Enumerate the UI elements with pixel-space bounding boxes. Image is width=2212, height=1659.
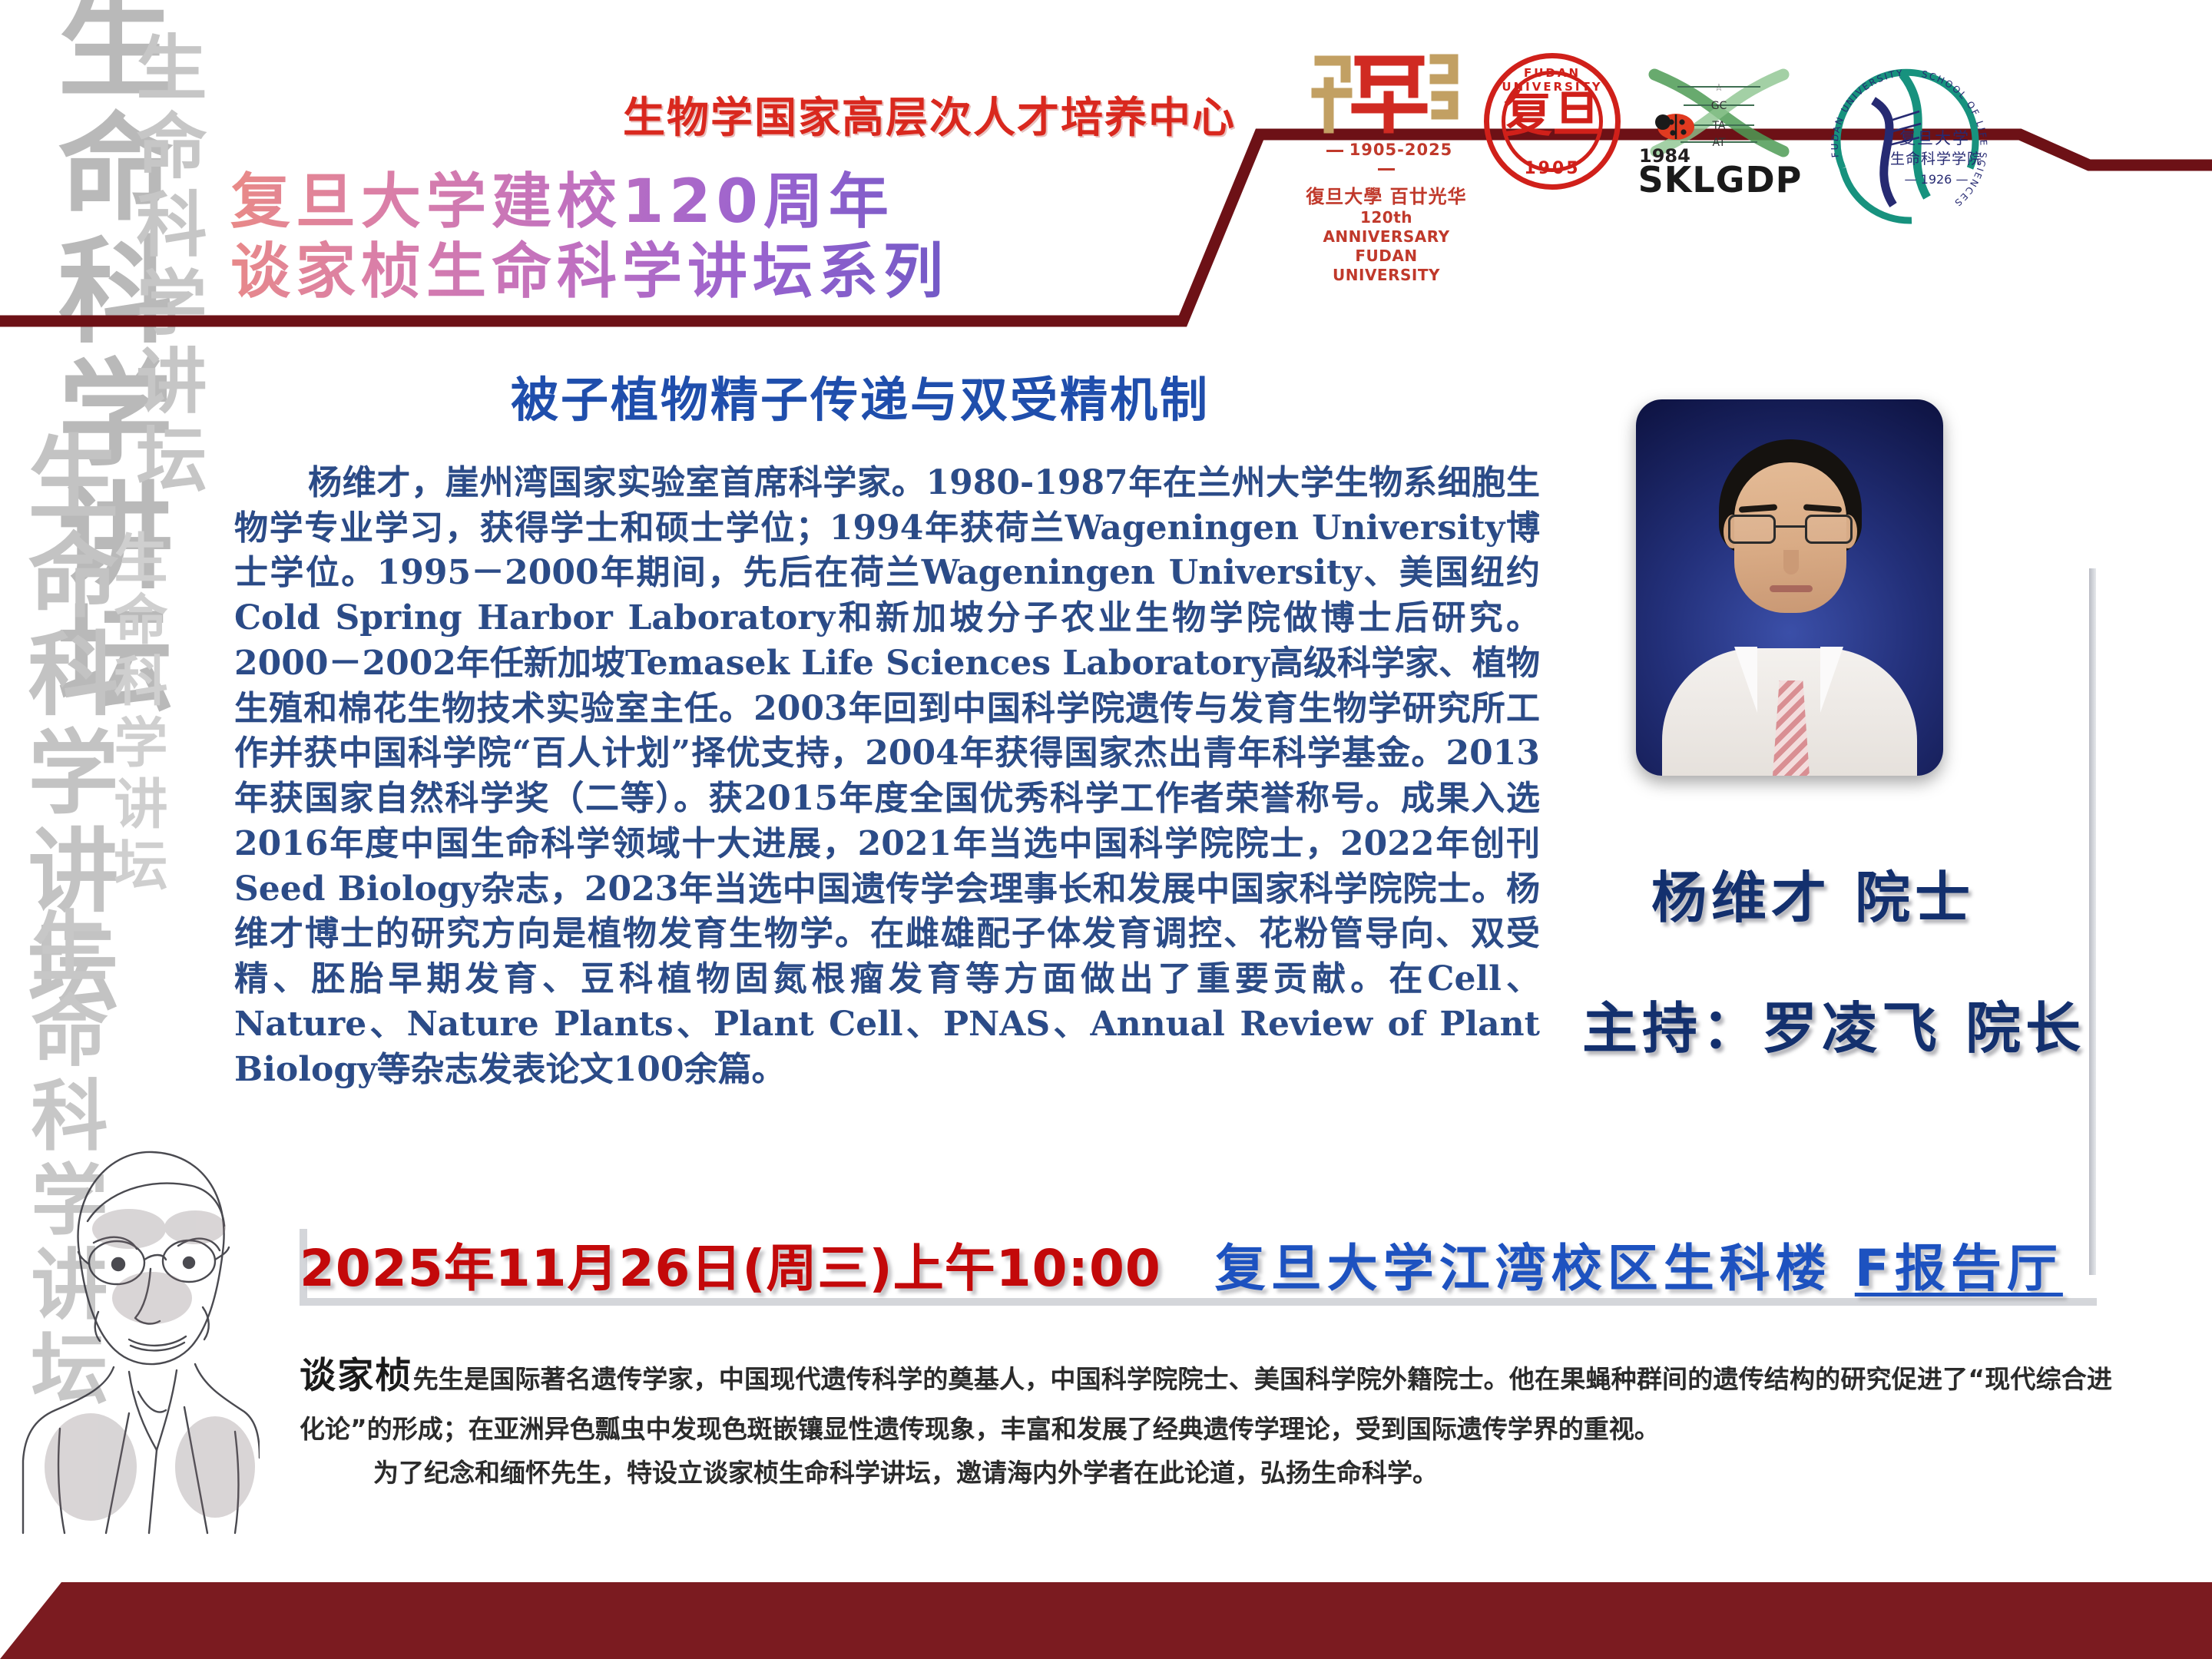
tan-jiazhen-name: 谈家桢 (300, 1355, 413, 1397)
svg-text:☆: ☆ (1714, 81, 1724, 93)
portrait-collar-right (1820, 647, 1843, 713)
anniversary-english-line1: 120th ANNIVERSARY (1306, 208, 1467, 247)
svg-text:TA: TA (1711, 120, 1725, 132)
series-title: 复旦大学建校120周年 谈家桢生命科学讲坛系列 (230, 167, 949, 308)
sklgdp-year: 1984 (1639, 145, 1690, 167)
venue-hall: F报告厅 (1855, 1239, 2063, 1298)
forum-description: 谈家桢先生是国际著名遗传学家，中国现代遗传科学的奠基人，中国科学院院士、美国科学… (300, 1346, 2112, 1495)
glasses-bridge (1776, 525, 1805, 528)
watermark-column: 生命科学讲坛 (23, 0, 190, 722)
bottom-maroon-bar (0, 1582, 2212, 1659)
school-of-life-sciences-logo: FUDAN UNIVERSITY SCHOOL OF LIFE SCIENCES… (1820, 47, 1996, 231)
speaker-portrait-photo (1636, 399, 1943, 776)
anniversary-english-line2: FUDAN UNIVERSITY (1306, 247, 1467, 285)
venue-building: 复旦大学江湾校区生科楼 (1215, 1239, 1832, 1298)
portrait-nose (1783, 550, 1799, 575)
watermark-column: 生命科学讲坛 (0, 430, 131, 1020)
portrait-glasses (1727, 515, 1854, 544)
vertical-divider (2089, 568, 2096, 1275)
svg-text:AT: AT (1712, 137, 1725, 149)
fudan-university-seal-logo: FUDAN UNIVERSITY 复旦 1905 (1484, 53, 1621, 190)
seal-arc-bottom-text: 1905 (1489, 159, 1615, 178)
center-heading: 生物学国家高层次人才培养中心 (584, 83, 1275, 144)
glasses-lens-right (1805, 515, 1853, 544)
portrait-mouth (1770, 585, 1813, 592)
event-venue: 复旦大学江湾校区生科楼 F报告厅 (1215, 1227, 2063, 1301)
anniversary-chinese: 復旦大學 百廿光华 (1306, 181, 1467, 208)
anniversary-years: 1905-2025 (1306, 141, 1467, 177)
event-details-band: 2025年11月26日(周三)上午10:00 复旦大学江湾校区生科楼 F报告厅 (300, 1229, 2097, 1300)
tan-jiazhen-sketch-portrait (14, 1106, 260, 1536)
svg-text:生命科学学院: 生命科学学院 (1890, 151, 1982, 167)
portrait-collar-left (1734, 647, 1757, 713)
talk-title: 被子植物精子传递与双受精机制 (330, 361, 1390, 430)
sklgdp-logo: ☆ GC TA AT 1984 SKLGDP (1637, 42, 1803, 200)
forum-paragraph-2: 为了纪念和缅怀先生，特设立谈家桢生命科学讲坛，邀请海内外学者在此论道，弘扬生命科… (300, 1452, 2112, 1495)
event-datetime: 2025年11月26日(周三)上午10:00 (300, 1227, 1161, 1301)
speaker-name: 杨维才 院士 (1651, 853, 1975, 933)
logo-strip: 1905-2025 復旦大學 百廿光华 120th ANNIVERSARY FU… (1306, 42, 2174, 273)
fudan-120th-anniversary-logo: 1905-2025 復旦大學 百廿光华 120th ANNIVERSARY FU… (1306, 42, 1467, 285)
svg-text:GC: GC (1711, 100, 1727, 112)
glasses-lens-left (1728, 515, 1776, 544)
seal-center-glyph: 复旦 (1489, 91, 1615, 140)
host-name: 主持：罗凌飞 院长 (1582, 983, 2085, 1064)
speaker-biography: 杨维才，崖州湾国家实验室首席科学家。1980-1987年在兰州大学生物系细胞生物… (234, 461, 1540, 1092)
watermark-column: 生命科学讲坛 (98, 530, 176, 899)
svg-text:复旦大学: 复旦大学 (1899, 129, 1970, 147)
watermark-column: 生命科学讲坛 (115, 31, 217, 501)
forum-paragraph-1: 先生是国际著名遗传学家，中国现代遗传科学的奠基人，中国科学院院士、美国科学院外籍… (300, 1364, 2112, 1444)
svg-text:— 1926 —: — 1926 — (1905, 172, 1969, 187)
anniversary-mark-icon (1306, 48, 1467, 139)
